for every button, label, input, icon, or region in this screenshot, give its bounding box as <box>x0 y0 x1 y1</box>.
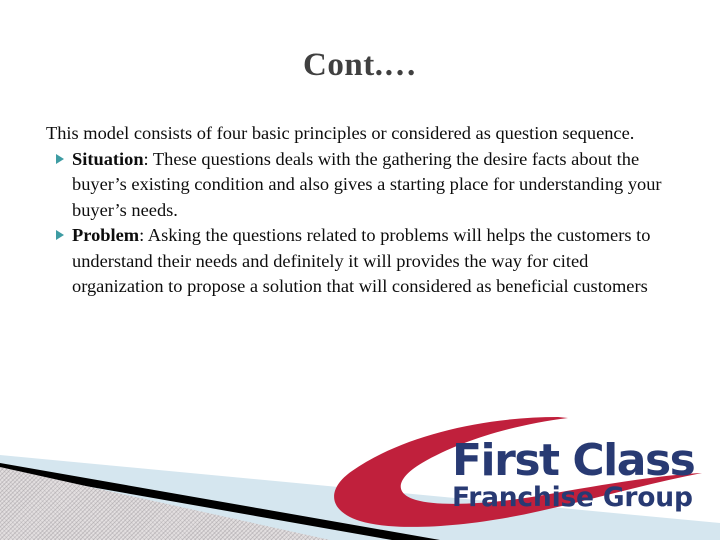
bullet-text: These questions deals with the gathering… <box>72 149 662 220</box>
company-logo: First Class Franchise Group <box>330 415 720 540</box>
triangle-bullet-icon <box>56 154 64 164</box>
logo-line-franchise-group: Franchise Group <box>452 484 694 512</box>
list-item: Situation: These questions deals with th… <box>46 147 672 224</box>
lead-paragraph: This model consists of four basic princi… <box>46 121 672 147</box>
presentation-slide: Cont.… This model consists of four basic… <box>0 0 720 540</box>
bullet-term: Problem <box>72 225 139 245</box>
bullet-text: Asking the questions related to problems… <box>72 225 650 296</box>
slide-title: Cont.… <box>0 46 720 86</box>
bullet-separator: : <box>144 149 153 169</box>
list-item: Problem: Asking the questions related to… <box>46 223 672 300</box>
slide-body: This model consists of four basic princi… <box>46 121 672 300</box>
logo-line-first-class: First Class <box>452 439 694 483</box>
triangle-bullet-icon <box>56 230 64 240</box>
logo-wordmark: First Class Franchise Group <box>452 439 694 512</box>
bullet-separator: : <box>139 225 148 245</box>
bullet-list: Situation: These questions deals with th… <box>46 147 672 300</box>
bullet-term: Situation <box>72 149 144 169</box>
